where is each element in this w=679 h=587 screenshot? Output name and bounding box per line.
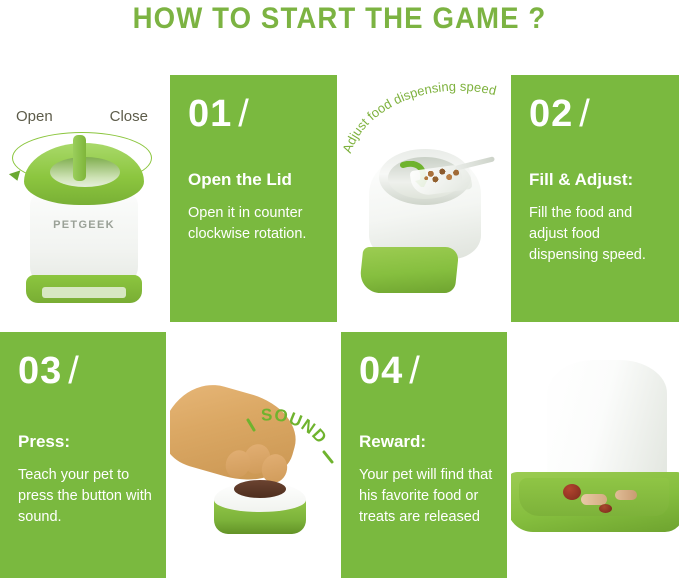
feeder-body-side bbox=[547, 360, 667, 488]
feeder-jar-body: PETGEEK bbox=[30, 193, 138, 285]
step-slash: / bbox=[238, 93, 250, 135]
feeder-lid-handle bbox=[73, 135, 86, 181]
step-slash: / bbox=[68, 350, 80, 392]
open-label: Open bbox=[16, 108, 53, 125]
cell-tray-reward bbox=[511, 332, 679, 587]
step-title-01: Open the Lid bbox=[188, 170, 292, 190]
step-number-03: 03/ bbox=[18, 352, 80, 390]
step-title-02: Fill & Adjust: bbox=[529, 170, 633, 190]
treat-item bbox=[563, 484, 581, 500]
treat-item bbox=[615, 490, 637, 500]
curved-caption-text: SOUND bbox=[261, 405, 332, 448]
product-image-feeder-open bbox=[359, 127, 491, 302]
curved-caption-sound: SOUND bbox=[242, 404, 337, 476]
step-body-01: Open it in counter clockwise rotation. bbox=[188, 203, 325, 245]
page-title: HOW TO START THE GAME ? bbox=[27, 2, 652, 36]
close-label: Close bbox=[110, 108, 148, 125]
step-number-02: 02/ bbox=[529, 95, 591, 133]
step-body-03: Teach your pet to press the button with … bbox=[18, 465, 154, 528]
cell-paw-press: SOUND bbox=[170, 332, 337, 580]
treat-item bbox=[599, 504, 612, 513]
sound-button-top[interactable] bbox=[234, 480, 286, 498]
step-panel-01: 01/ Open the Lid Open it in counter cloc… bbox=[170, 75, 337, 322]
cell-feeder-fill: Adjust food dispensing speed bbox=[341, 75, 507, 322]
step-title-03: Press: bbox=[18, 432, 70, 452]
step-number-04: 04/ bbox=[359, 352, 421, 390]
feeder-tray bbox=[359, 247, 460, 293]
step-slash: / bbox=[409, 350, 421, 392]
feeder-base-slot bbox=[42, 287, 126, 298]
step-body-04: Your pet will find that his favorite foo… bbox=[359, 465, 495, 528]
step-panel-03: 03/ Press: Teach your pet to press the b… bbox=[0, 332, 166, 578]
step-number-value: 02 bbox=[529, 93, 573, 135]
step-number-01: 01/ bbox=[188, 95, 250, 133]
svg-text:SOUND: SOUND bbox=[261, 405, 332, 448]
food-kibble bbox=[417, 165, 463, 187]
brand-label: PETGEEK bbox=[30, 219, 138, 231]
step-body-02: Fill the food and adjust food dispensing… bbox=[529, 203, 667, 266]
product-image-feeder-closed: PETGEEK bbox=[18, 135, 150, 310]
step-panel-04: 04/ Reward: Your pet will find that his … bbox=[341, 332, 507, 578]
step-slash: / bbox=[579, 93, 591, 135]
step-number-value: 04 bbox=[359, 350, 403, 392]
step-number-value: 01 bbox=[188, 93, 232, 135]
cell-device-open-close: Open Close PETGEEK bbox=[0, 75, 166, 323]
step-panel-02: 02/ Fill & Adjust: Fill the food and adj… bbox=[511, 75, 679, 322]
step-number-value: 03 bbox=[18, 350, 62, 392]
step-title-04: Reward: bbox=[359, 432, 426, 452]
